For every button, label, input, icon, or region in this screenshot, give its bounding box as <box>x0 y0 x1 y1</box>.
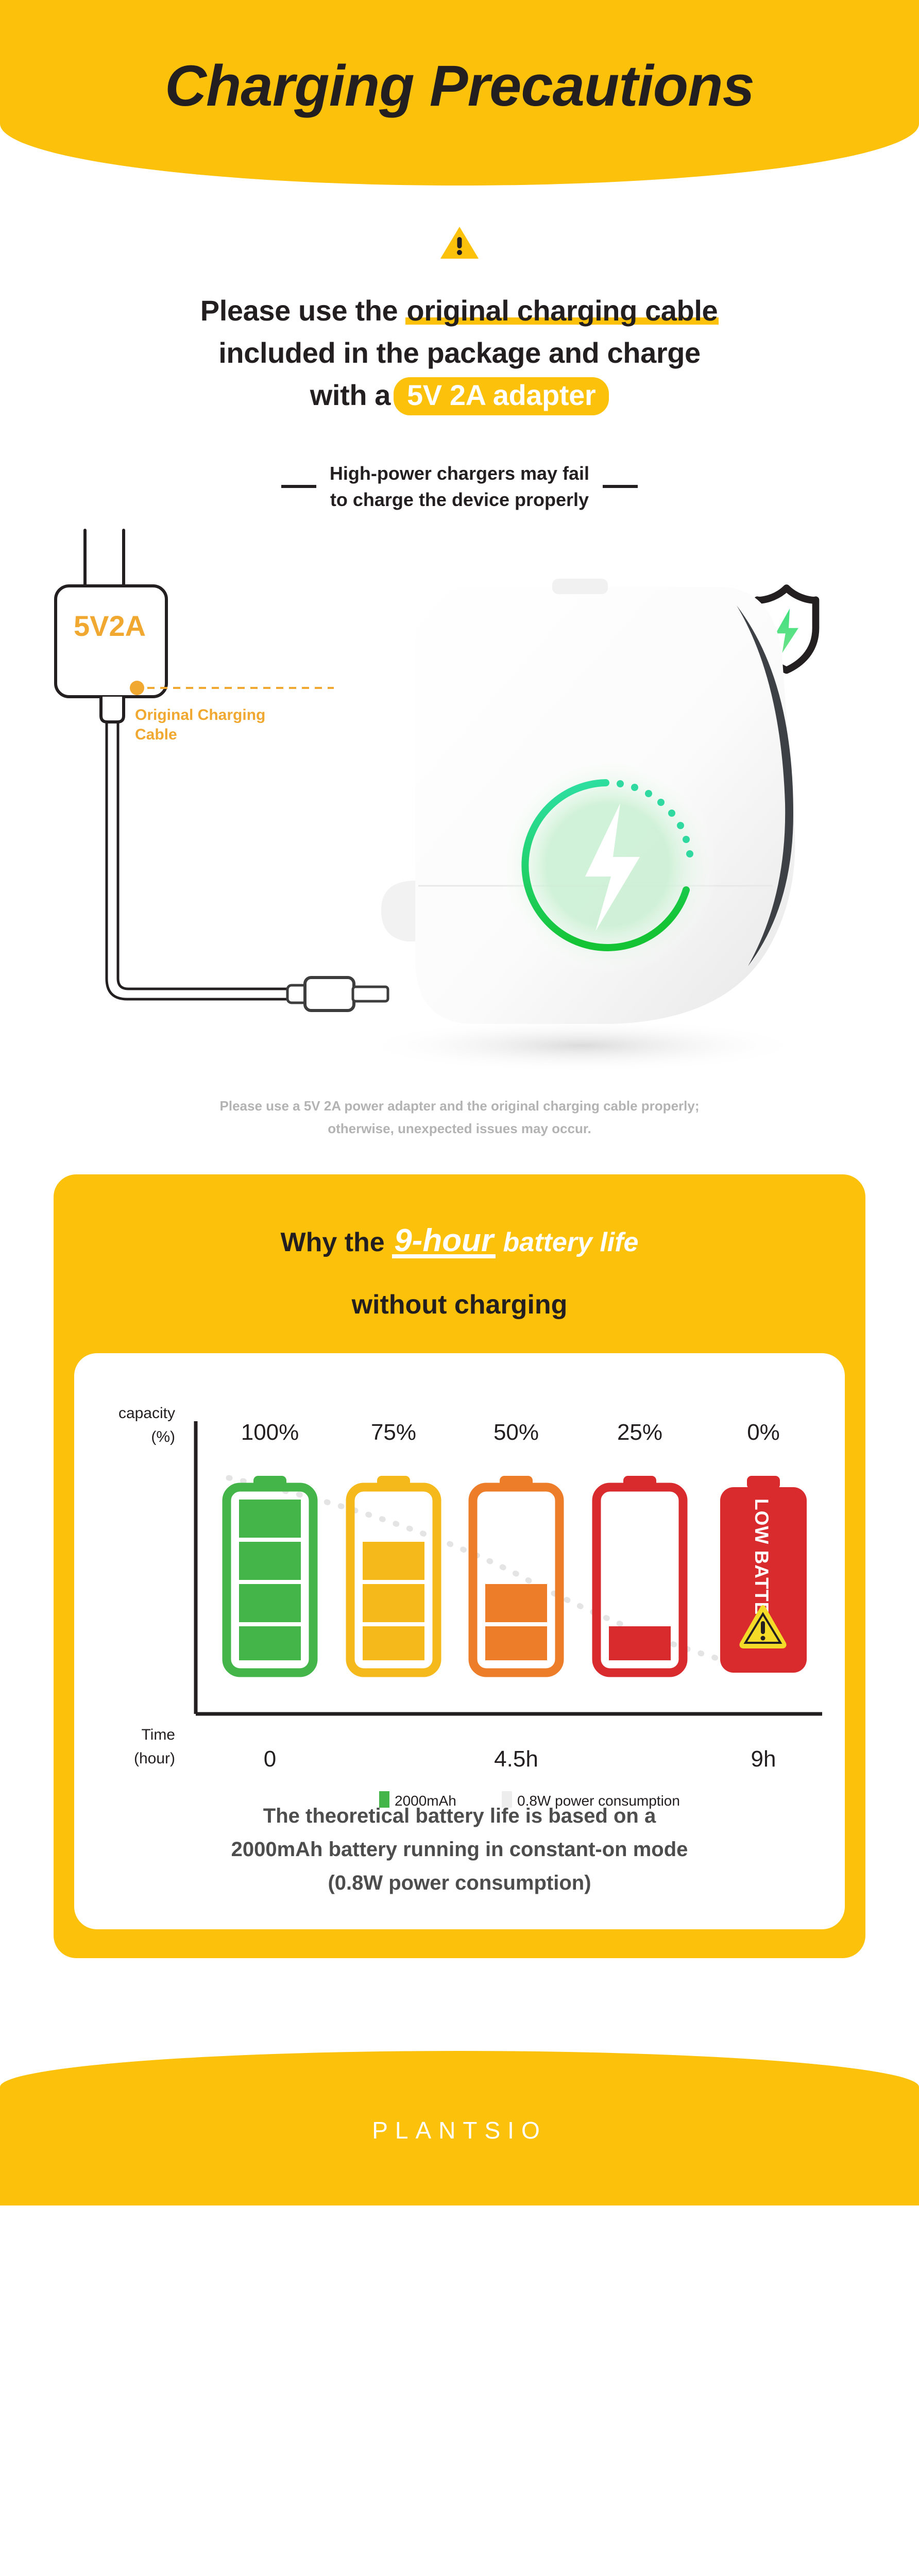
infographic-page: Charging Precautions Please use the orig… <box>0 0 919 2576</box>
warning-triangle-icon <box>440 226 479 260</box>
x-axis-label: Time <box>141 1726 175 1743</box>
adapter-pill-badge: 5V 2A adapter <box>394 377 609 415</box>
page-footer: PLANTSIO <box>0 2035 919 2205</box>
heading-hours: 9-hour <box>392 1223 496 1258</box>
page-title: Charging Precautions <box>165 53 754 119</box>
chart-caption-line-3: (0.8W power consumption) <box>110 1866 809 1900</box>
charging-indicator <box>497 754 719 976</box>
divider-dash-left <box>281 485 316 488</box>
chart-caption-line-2: 2000mAh battery running in constant-on m… <box>110 1833 809 1866</box>
battery-life-card: Why the 9-hour battery life without char… <box>54 1174 865 1958</box>
battery-chart: capacity (%) 100% 75% 50% 25% 0% <box>74 1384 845 1786</box>
scene-caption-line-1: Please use a 5V 2A power adapter and the… <box>0 1095 919 1117</box>
heading-pre: Why the <box>281 1227 393 1257</box>
adapter-cable-neck <box>101 697 124 722</box>
y-axis-label: capacity <box>118 1405 175 1422</box>
device-shadow <box>361 1019 804 1072</box>
scene-caption: Please use a 5V 2A power adapter and the… <box>0 1095 919 1139</box>
bar-label-2: 50% <box>493 1420 539 1445</box>
warning-highlight: original charging cable <box>405 294 719 327</box>
battery-icon-75 <box>350 1476 437 1673</box>
product-illustration: 5V2A Original Charging Cable <box>0 525 919 1113</box>
subnote-block: High-power chargers may fail to charge t… <box>0 460 919 513</box>
warning-line-1-pre: Please use the <box>200 294 406 327</box>
x-tick-0: 0 <box>264 1746 276 1772</box>
subnote-line-2: to charge the device properly <box>330 486 589 513</box>
warning-text: Please use the original charging cable i… <box>0 290 919 416</box>
legend-swatch-1 <box>502 1791 512 1808</box>
y-axis-unit: (%) <box>151 1428 175 1445</box>
page-header: Charging Precautions <box>0 0 919 186</box>
cable-callout-line-1: Original Charging <box>135 706 265 723</box>
subnote-text: High-power chargers may fail to charge t… <box>330 460 589 513</box>
battery-icon-25 <box>597 1476 683 1673</box>
heading-post: battery life <box>496 1227 638 1257</box>
chart-legend: 2000mAh 0.8W power consumption <box>74 1783 853 1816</box>
bar-label-0: 100% <box>241 1420 299 1445</box>
bar-label-3: 25% <box>617 1420 662 1445</box>
bar-label-1: 75% <box>371 1420 416 1445</box>
device-top-nub <box>552 579 608 594</box>
heading-line-2: without charging <box>74 1279 845 1331</box>
warning-line-3: with a5V 2A adapter <box>0 374 919 416</box>
adapter-label: 5V2A <box>74 610 146 642</box>
callout-dot <box>130 681 144 695</box>
divider-dash-right <box>603 485 638 488</box>
legend-label-0: 2000mAh <box>395 1793 456 1809</box>
x-axis-unit: (hour) <box>134 1750 175 1767</box>
x-tick-1: 4.5h <box>494 1746 538 1772</box>
subnote-line-1: High-power chargers may fail <box>330 460 589 486</box>
warning-line-3-pre: with a <box>310 379 390 411</box>
battery-icon-0: LOW BATTERY <box>720 1476 807 1673</box>
product-scene: 5V2A Original Charging Cable <box>0 525 919 1113</box>
battery-chart-svg: capacity (%) 100% 75% 50% 25% 0% <box>74 1384 853 1786</box>
device-side-nozzle <box>381 881 415 941</box>
footer-band: PLANTSIO <box>0 2051 919 2205</box>
chart-card: capacity (%) 100% 75% 50% 25% 0% <box>74 1353 845 1929</box>
battery-section-heading: Why the 9-hour battery life without char… <box>54 1210 865 1331</box>
charging-cable <box>107 722 288 999</box>
scene-caption-line-2: otherwise, unexpected issues may occur. <box>0 1118 919 1140</box>
legend-swatch-0 <box>379 1791 389 1808</box>
bar-label-4: 0% <box>747 1420 780 1445</box>
warning-line-2: included in the package and charge <box>0 332 919 374</box>
usb-connector <box>287 978 388 1011</box>
legend-label-1: 0.8W power consumption <box>517 1793 680 1809</box>
warning-line-1: Please use the original charging cable <box>0 290 919 332</box>
x-tick-2: 9h <box>751 1746 776 1772</box>
cable-callout-line-2: Cable <box>135 726 177 743</box>
battery-icon-100 <box>227 1476 313 1673</box>
warning-block: Please use the original charging cable i… <box>0 186 919 513</box>
brand-logo: PLANTSIO <box>372 2116 547 2144</box>
